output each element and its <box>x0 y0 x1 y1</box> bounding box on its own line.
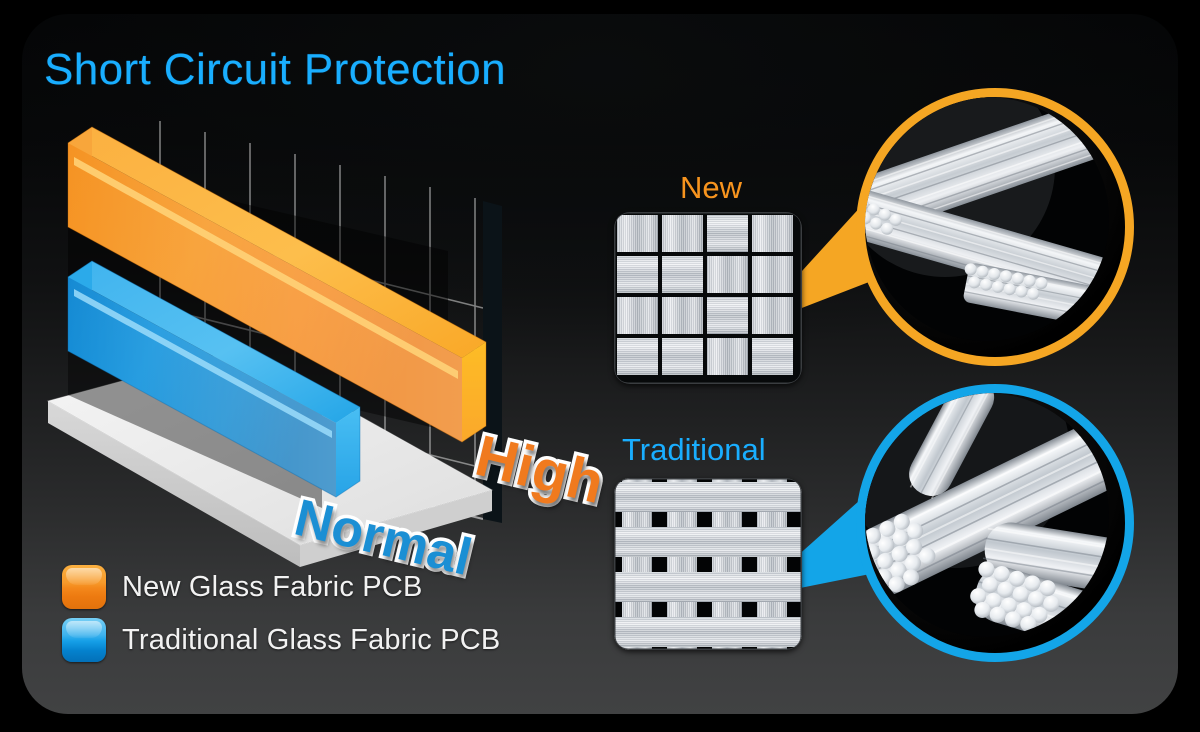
sample-label-traditional: Traditional <box>622 432 766 468</box>
chart-legend: New Glass Fabric PCB Traditional Glass F… <box>62 565 500 671</box>
page-title: Short Circuit Protection <box>44 45 506 95</box>
legend-swatch-orange-icon <box>62 565 106 609</box>
legend-swatch-blue-icon <box>62 618 106 662</box>
legend-label-new: New Glass Fabric PCB <box>122 571 423 604</box>
magnified-view-traditional <box>856 384 1134 662</box>
fabric-samples-panel: New Traditional <box>600 60 1160 680</box>
slide-root: Short Circuit Protection <box>0 0 1200 732</box>
fabric-swatch-new <box>614 212 802 384</box>
legend-label-traditional: Traditional Glass Fabric PCB <box>122 624 500 657</box>
fabric-swatch-traditional <box>614 478 802 650</box>
sample-label-new: New <box>680 170 742 206</box>
legend-item-traditional: Traditional Glass Fabric PCB <box>62 618 500 662</box>
magnified-view-new <box>856 88 1134 366</box>
bar-chart-3d: High Normal <box>40 105 600 575</box>
legend-item-new: New Glass Fabric PCB <box>62 565 500 609</box>
